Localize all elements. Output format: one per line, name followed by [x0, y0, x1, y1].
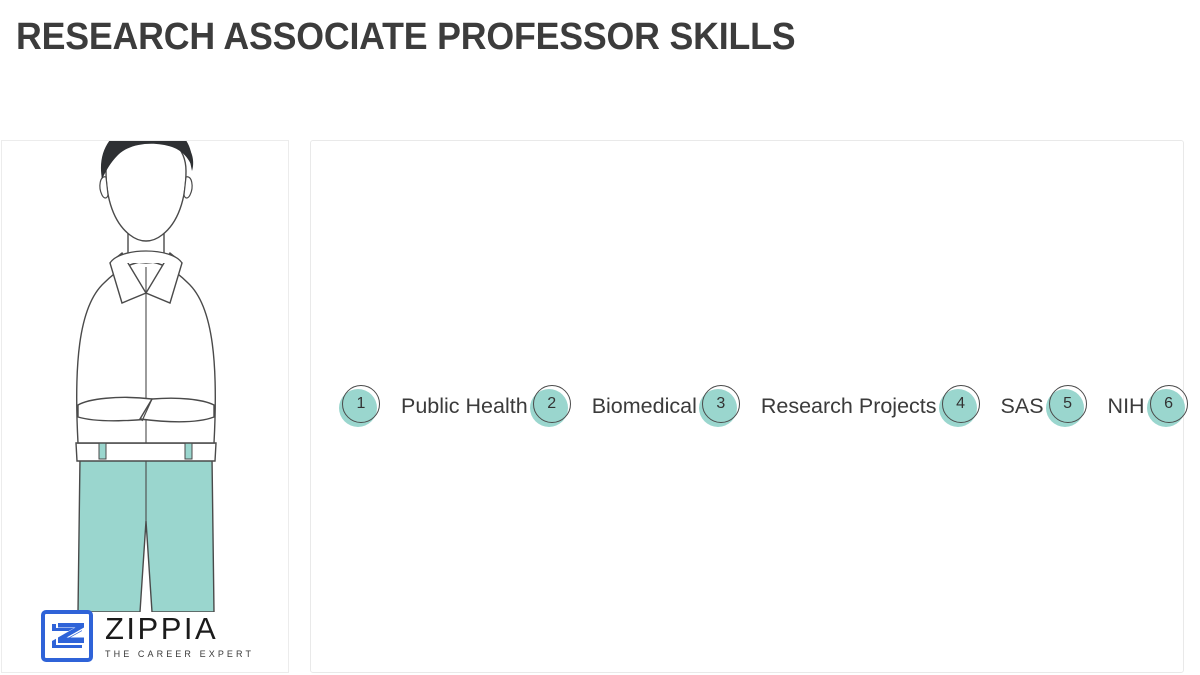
person-arms-crossed-illustration: [2, 140, 289, 612]
infographic-page: RESEARCH ASSOCIATE PROFESSOR SKILLS: [0, 0, 1200, 675]
rank-badge-icon: 5: [1044, 384, 1090, 430]
rank-badge-icon: 6: [1145, 384, 1191, 430]
list-item[interactable]: 5 NIH: [1044, 183, 1145, 630]
rank-badge-icon: 3: [697, 384, 743, 430]
zippia-logo-icon: [41, 610, 93, 662]
rank-badge-icon: 2: [528, 384, 574, 430]
skills-card: 1 Public Health 2 Biomedical 3 Research …: [310, 140, 1184, 673]
rank-number: 1: [342, 385, 380, 423]
skills-list: 1 Public Health 2 Biomedical 3 Research …: [311, 141, 1183, 672]
list-item[interactable]: 4 SAS: [937, 183, 1044, 630]
rank-badge-icon: 4: [937, 384, 983, 430]
zippia-tagline: THE CAREER EXPERT: [105, 649, 254, 659]
skill-label: SAS: [1001, 394, 1044, 419]
rank-number: 4: [942, 385, 980, 423]
skill-label: Biomedical: [592, 394, 697, 419]
list-item[interactable]: 2 Biomedical: [528, 183, 697, 630]
rank-number: 6: [1150, 385, 1188, 423]
page-title: RESEARCH ASSOCIATE PROFESSOR SKILLS: [16, 16, 795, 59]
list-item[interactable]: 1 Public Health: [337, 183, 528, 630]
rank-number: 3: [702, 385, 740, 423]
illustration-panel: [1, 140, 289, 673]
skill-label: Public Health: [401, 394, 528, 419]
rank-number: 5: [1049, 385, 1087, 423]
zippia-wordmark: ZIPPIA: [105, 613, 254, 644]
skill-label: NIH: [1108, 394, 1145, 419]
zippia-logo-text: ZIPPIA THE CAREER EXPERT: [105, 613, 254, 659]
zippia-logo: ZIPPIA THE CAREER EXPERT: [41, 610, 254, 662]
rank-number: 2: [533, 385, 571, 423]
list-item[interactable]: 3 Research Projects: [697, 183, 937, 630]
skill-label: Research Projects: [761, 394, 937, 419]
list-item[interactable]: 6 Data Collection: [1145, 183, 1200, 630]
rank-badge-icon: 1: [337, 384, 383, 430]
